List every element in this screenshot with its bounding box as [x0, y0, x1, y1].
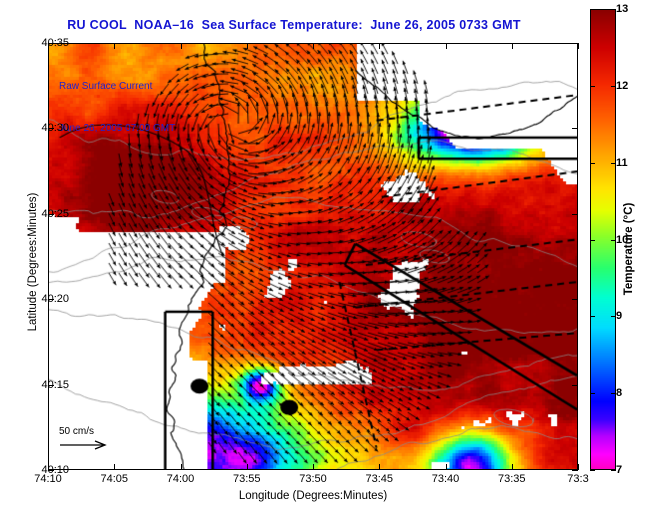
colorbar-tick-mark	[611, 163, 616, 164]
colorbar-tick-mark	[590, 86, 595, 87]
colorbar-tick-mark	[611, 393, 616, 394]
x-axis-tick-mark	[313, 43, 314, 49]
velocity-scale-bar: 50 cm/s	[59, 426, 111, 451]
y-axis-tick-label: 40:25	[41, 208, 69, 220]
colorbar-tick-mark	[611, 470, 616, 471]
y-axis-tick-mark	[48, 128, 54, 129]
colorbar-tick-mark	[611, 240, 616, 241]
right-arrow-icon	[59, 439, 111, 451]
colorbar-tick-label: 12	[616, 80, 628, 92]
sst-field-canvas	[49, 44, 577, 469]
colorbar-tick-label: 13	[616, 3, 628, 15]
colorbar-tick-mark	[590, 9, 595, 10]
x-axis-tick-mark	[313, 464, 314, 470]
y-axis-tick-mark	[572, 214, 578, 215]
x-axis-tick-mark	[379, 464, 380, 470]
x-axis-tick-mark	[181, 43, 182, 49]
x-axis-tick-label: 73:40	[432, 473, 460, 485]
y-axis-tick-mark	[572, 470, 578, 471]
x-axis-tick-mark	[48, 464, 49, 470]
x-axis-tick-mark	[48, 43, 49, 49]
colorbar-tick-label: 11	[616, 157, 628, 169]
colorbar-tick-mark	[611, 316, 616, 317]
scale-bar-label: 50 cm/s	[59, 426, 111, 437]
y-axis-tick-label: 40:20	[41, 293, 69, 305]
x-axis-tick-mark	[181, 464, 182, 470]
x-axis-tick-mark	[379, 43, 380, 49]
x-axis-tick-mark	[114, 43, 115, 49]
sst-map-figure: RU COOL NOAA–16 Sea Surface Temperature:…	[0, 0, 651, 515]
x-axis-tick-label: 74:05	[100, 473, 128, 485]
x-axis-tick-mark	[247, 43, 248, 49]
map-plot-area[interactable]: Raw Surface Current June 26, 2005 07:00 …	[48, 43, 578, 470]
x-axis-tick-mark	[446, 43, 447, 49]
x-axis-tick-label: 73:45	[365, 473, 393, 485]
colorbar-tick-label: 7	[616, 464, 622, 476]
colorbar-label: Temperature (°C)	[623, 169, 635, 329]
x-axis-tick-mark	[446, 464, 447, 470]
x-axis-tick-mark	[512, 43, 513, 49]
colorbar-tick-mark	[590, 393, 595, 394]
colorbar-tick-mark	[590, 470, 595, 471]
y-axis-tick-label: 40:35	[41, 37, 69, 49]
x-axis-tick-mark	[247, 464, 248, 470]
x-axis-tick-mark	[578, 464, 579, 470]
x-axis-tick-label: 73:55	[233, 473, 261, 485]
colorbar-tick-label: 8	[616, 387, 622, 399]
x-axis-tick-label: 73:3	[567, 473, 588, 485]
y-axis-tick-mark	[48, 214, 54, 215]
y-axis-tick-mark	[572, 128, 578, 129]
x-axis-tick-mark	[578, 43, 579, 49]
x-axis-tick-label: 74:00	[167, 473, 195, 485]
x-axis-tick-mark	[512, 464, 513, 470]
y-axis-tick-mark	[48, 385, 54, 386]
colorbar-tick-mark	[590, 163, 595, 164]
figure-title: RU COOL NOAA–16 Sea Surface Temperature:…	[0, 18, 588, 32]
y-axis-tick-label: 40:15	[41, 379, 69, 391]
colorbar-tick-label: 9	[616, 310, 622, 322]
colorbar-tick-mark	[590, 316, 595, 317]
x-axis-tick-label: 73:35	[498, 473, 526, 485]
x-axis-tick-mark	[114, 464, 115, 470]
y-axis-tick-label: 40:30	[41, 122, 69, 134]
y-axis-label: Latitude (Degrees:Minutes)	[27, 147, 39, 377]
y-axis-tick-mark	[572, 385, 578, 386]
x-axis-label: Longitude (Degrees:Minutes)	[48, 490, 578, 502]
y-axis-tick-mark	[48, 470, 54, 471]
colorbar-tick-mark	[611, 86, 616, 87]
colorbar-tick-mark	[590, 240, 595, 241]
colorbar-tick-mark	[611, 9, 616, 10]
y-axis-tick-mark	[48, 299, 54, 300]
x-axis-tick-label: 74:10	[34, 473, 62, 485]
x-axis-tick-label: 73:50	[299, 473, 327, 485]
y-axis-tick-mark	[572, 299, 578, 300]
